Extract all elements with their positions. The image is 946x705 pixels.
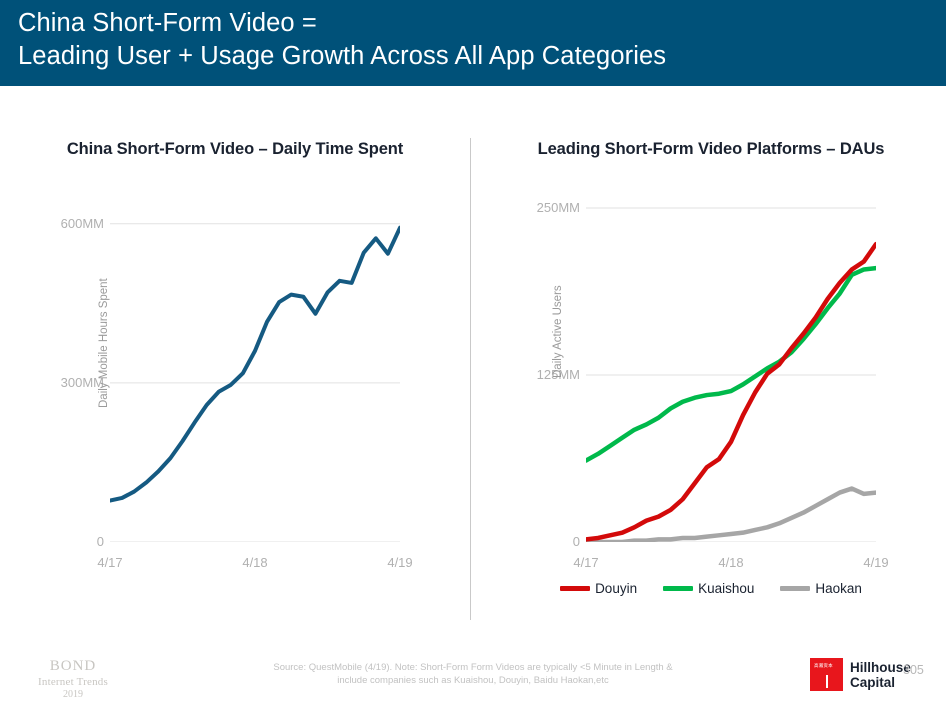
bond-logo-name: BOND <box>18 658 128 675</box>
y-axis-label-right: Daily Active Users <box>552 178 564 378</box>
panel-divider <box>470 138 471 620</box>
line-chart-left <box>110 192 400 542</box>
hillhouse-mark-glyph: 高瀚资本 <box>814 663 833 668</box>
bond-internet-trends-logo: BOND Internet Trends 2019 <box>18 658 128 700</box>
data-line-daily-hours <box>110 228 400 501</box>
plot-left <box>110 192 400 542</box>
legend-swatch-haokan <box>780 586 810 591</box>
bond-logo-subtitle: Internet Trends <box>18 676 128 688</box>
hillhouse-mark-icon: 高瀚资本 <box>810 658 843 691</box>
legend-item-kuaishou: Kuaishou <box>663 581 754 596</box>
ytick-label-right-125: 125MM <box>510 367 580 382</box>
data-line-haokan <box>586 489 876 542</box>
xtick-label-right-2: 4/19 <box>846 555 906 570</box>
chart-area-right: 250MM 125MM 0 4/17 4/18 4/19 <box>476 176 946 576</box>
chart-legend: Douyin Kuaishou Haokan <box>476 581 946 596</box>
hillhouse-wordmark-line2: Capital <box>850 675 911 690</box>
gridlines-right <box>586 208 876 542</box>
chart-area-left: 600MM 300MM 0 4/17 4/18 4/19 <box>0 176 470 576</box>
page-number: 305 <box>903 663 924 677</box>
legend-label-kuaishou: Kuaishou <box>698 581 754 596</box>
source-note: Source: QuestMobile (4/19). Note: Short-… <box>253 661 693 687</box>
plot-right <box>586 192 876 542</box>
ytick-label-left-0: 0 <box>38 534 104 549</box>
y-axis-label-left: Daily Mobile Hours Spent <box>98 208 110 408</box>
page-title: China Short-Form Video = Leading User + … <box>18 7 918 73</box>
legend-swatch-kuaishou <box>663 586 693 591</box>
xtick-label-right-1: 4/18 <box>701 555 761 570</box>
legend-item-haokan: Haokan <box>780 581 862 596</box>
xtick-label-right-0: 4/17 <box>556 555 616 570</box>
bond-logo-year: 2019 <box>18 689 128 700</box>
ytick-label-right-250: 250MM <box>510 200 580 215</box>
hillhouse-wordmark-line1: Hillhouse <box>850 660 911 675</box>
slide-footer: Source: QuestMobile (4/19). Note: Short-… <box>0 646 946 705</box>
hillhouse-wordmark: Hillhouse Capital <box>850 660 911 690</box>
chart-panel-right: Leading Short-Form Video Platforms – DAU… <box>476 86 946 646</box>
legend-label-haokan: Haokan <box>815 581 862 596</box>
hillhouse-capital-logo: 高瀚资本 Hillhouse Capital <box>810 658 911 691</box>
xtick-label-left-0: 4/17 <box>80 555 140 570</box>
data-line-kuaishou <box>586 268 876 460</box>
xtick-label-left-1: 4/18 <box>225 555 285 570</box>
slide-body: China Short-Form Video – Daily Time Spen… <box>0 86 946 646</box>
xtick-label-left-2: 4/19 <box>370 555 430 570</box>
chart-panel-left: China Short-Form Video – Daily Time Spen… <box>0 86 470 646</box>
chart-title-right: Leading Short-Form Video Platforms – DAU… <box>476 140 946 159</box>
ytick-label-left-300: 300MM <box>38 375 104 390</box>
ytick-label-right-0: 0 <box>510 534 580 549</box>
ytick-label-left-600: 600MM <box>38 216 104 231</box>
slide-header-bar: China Short-Form Video = Leading User + … <box>0 0 946 86</box>
line-chart-right <box>586 192 876 542</box>
hillhouse-mark-bar <box>826 675 828 688</box>
legend-item-douyin: Douyin <box>560 581 637 596</box>
legend-label-douyin: Douyin <box>595 581 637 596</box>
chart-title-left: China Short-Form Video – Daily Time Spen… <box>0 140 470 159</box>
legend-swatch-douyin <box>560 586 590 591</box>
